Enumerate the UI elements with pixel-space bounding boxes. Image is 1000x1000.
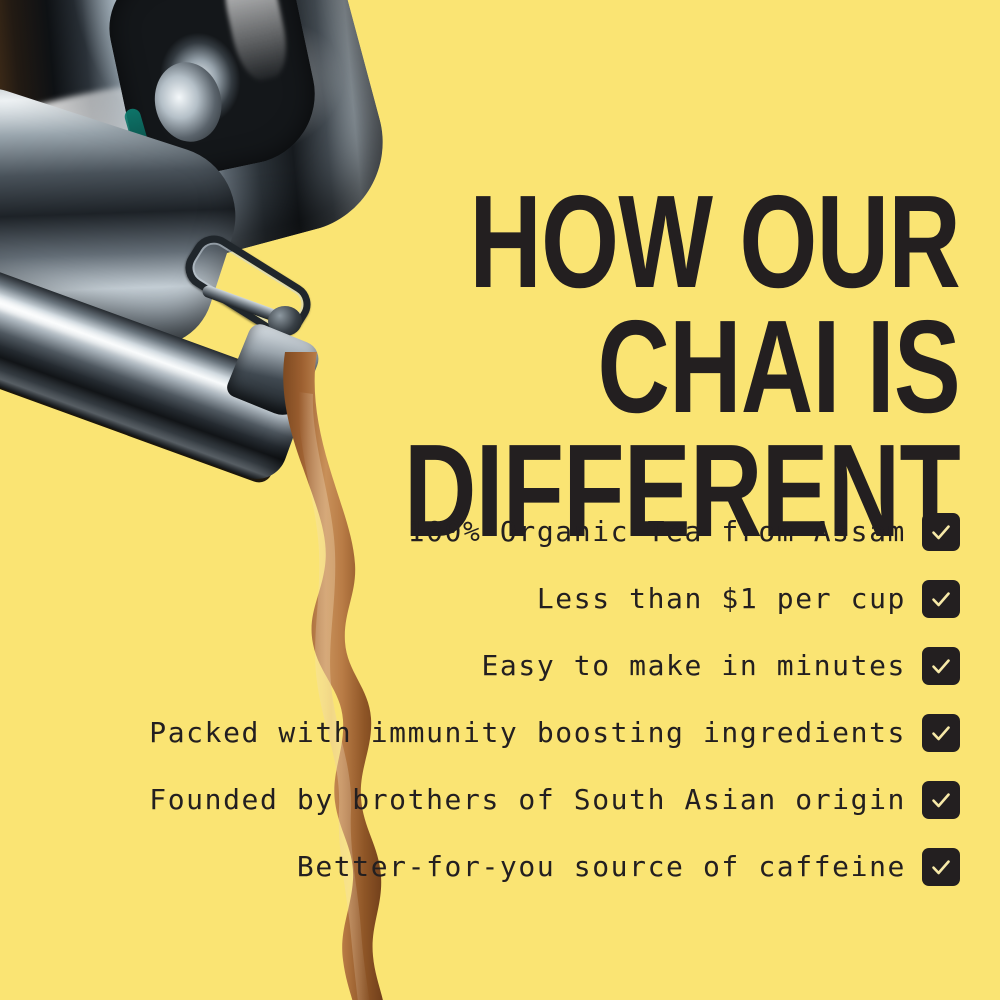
headline-line-2: CHAI IS [246, 305, 960, 429]
checkmark-icon [922, 714, 960, 752]
list-item: Packed with immunity boosting ingredient… [20, 699, 960, 766]
headline-line-1: HOW OUR [246, 180, 960, 304]
teapot-shoulder [0, 79, 254, 362]
list-item: Easy to make in minutes [20, 632, 960, 699]
feature-label: Packed with immunity boosting ingredient… [149, 719, 906, 747]
checkmark-icon [922, 513, 960, 551]
feature-label: Less than $1 per cup [537, 585, 906, 613]
feature-label: Better-for-you source of caffeine [297, 853, 906, 881]
teapot-teal-accent [123, 107, 153, 163]
list-item: 100% Organic Tea from Assam [20, 498, 960, 565]
feature-label: Founded by brothers of South Asian origi… [149, 786, 906, 814]
list-item: Less than $1 per cup [20, 565, 960, 632]
teapot-lid-knob [98, 0, 328, 187]
list-item: Better-for-you source of caffeine [20, 833, 960, 900]
teapot-spout-shadow [0, 301, 282, 486]
feature-label: Easy to make in minutes [481, 652, 906, 680]
page-title: HOW OUR CHAI IS DIFFERENT [246, 180, 960, 552]
feature-label: 100% Organic Tea from Assam [408, 518, 906, 546]
checkmark-icon [922, 781, 960, 819]
checkmark-icon [922, 848, 960, 886]
feature-list: 100% Organic Tea from Assam Less than $1… [20, 498, 960, 900]
list-item: Founded by brothers of South Asian origi… [20, 766, 960, 833]
chai-promo-poster: HOW OUR CHAI IS DIFFERENT 100% Organic T… [0, 0, 1000, 1000]
checkmark-icon [922, 647, 960, 685]
checkmark-icon [922, 580, 960, 618]
